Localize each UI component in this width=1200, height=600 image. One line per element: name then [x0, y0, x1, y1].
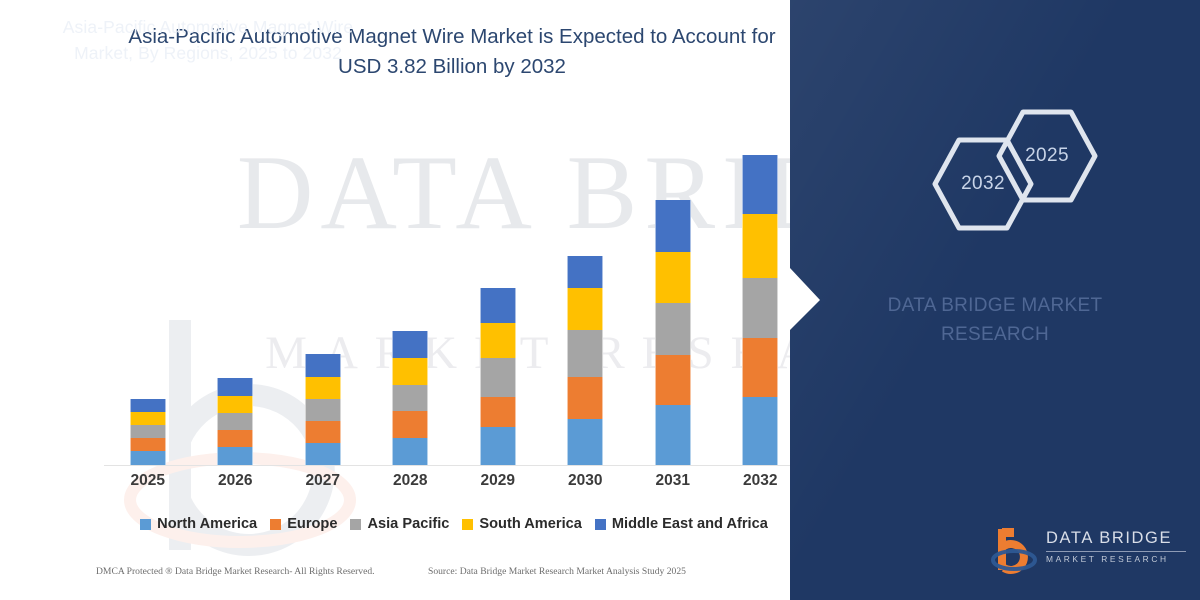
legend-swatch-icon	[595, 519, 606, 530]
bar-segment	[130, 438, 166, 451]
bar-segment	[217, 396, 253, 413]
bar-segment	[217, 430, 253, 447]
bar-segment	[655, 303, 691, 355]
legend-item[interactable]: North America	[140, 516, 257, 532]
brand-logo: DATA BRIDGE MARKET RESEARCH	[990, 522, 1186, 578]
bar-segment	[655, 252, 691, 303]
bar-column	[192, 120, 280, 465]
bar-segment	[567, 256, 603, 288]
stacked-bar	[480, 288, 516, 465]
bar-segment	[655, 200, 691, 251]
hex-badge-2025: 2025	[996, 108, 1098, 204]
bar-column	[542, 120, 630, 465]
x-axis-tick-label: 2031	[629, 472, 717, 490]
legend-item[interactable]: Europe	[270, 516, 337, 532]
bar-segment	[480, 397, 516, 427]
bar-segment	[567, 330, 603, 376]
bar-segment	[567, 377, 603, 419]
stacked-bar	[130, 399, 166, 465]
x-axis-tick-label: 2030	[542, 472, 630, 490]
bar-segment	[480, 358, 516, 397]
infographic-root: DATA BRIDGE MARKET RESEARCH Asia-Pacific…	[0, 0, 1200, 600]
legend-label: North America	[157, 516, 257, 532]
bar-segment	[567, 288, 603, 330]
bar-segment	[567, 419, 603, 465]
bar-segment	[392, 331, 428, 358]
x-axis-tick-label: 2029	[454, 472, 542, 490]
legend-label: Asia Pacific	[367, 516, 449, 532]
bar-segment	[480, 427, 516, 465]
bar-segment	[392, 438, 428, 465]
bar-segment	[480, 288, 516, 323]
footer-copyright: DMCA Protected ® Data Bridge Market Rese…	[96, 566, 375, 577]
bar-segment	[130, 451, 166, 465]
bar-segment	[742, 397, 778, 465]
bar-segment	[130, 399, 166, 412]
legend-swatch-icon	[462, 519, 473, 530]
legend-item[interactable]: South America	[462, 516, 581, 532]
x-axis-line	[104, 465, 804, 466]
side-panel-brand-text: DATA BRIDGE MARKET RESEARCH	[835, 292, 1155, 349]
bar-segment	[655, 405, 691, 465]
bar-segment	[480, 323, 516, 358]
bar-column	[629, 120, 717, 465]
side-panel-title: Asia-Pacific Automotive Magnet Wire Mark…	[32, 14, 384, 67]
footer: DMCA Protected ® Data Bridge Market Rese…	[0, 566, 800, 588]
stacked-bar	[392, 331, 428, 465]
bar-segment	[392, 411, 428, 438]
bar-column	[454, 120, 542, 465]
bar-segment	[130, 425, 166, 438]
data-bridge-b-icon	[990, 524, 1042, 576]
logo-divider	[1046, 551, 1186, 552]
bar-segment	[305, 377, 341, 399]
footer-source: Source: Data Bridge Market Research Mark…	[428, 566, 686, 577]
bar-segment	[742, 155, 778, 214]
chart-legend: North AmericaEuropeAsia PacificSouth Ame…	[104, 512, 804, 536]
stacked-bar-chart: 20252026202720282029203020312032	[104, 120, 804, 470]
logo-primary-text: DATA BRIDGE	[1046, 530, 1186, 547]
bar-segment	[742, 214, 778, 277]
stacked-bar	[567, 256, 603, 465]
bar-segment	[655, 355, 691, 405]
bar-column	[104, 120, 192, 465]
bar-segment	[217, 413, 253, 430]
legend-swatch-icon	[140, 519, 151, 530]
x-axis-tick-label: 2026	[192, 472, 280, 490]
legend-label: Middle East and Africa	[612, 516, 768, 532]
x-axis-tick-label: 2028	[367, 472, 455, 490]
bar-segment	[305, 399, 341, 421]
hexagon-badges: 2032 2025	[790, 108, 1200, 238]
bar-segment	[392, 385, 428, 412]
bar-segment	[392, 358, 428, 385]
bar-column	[279, 120, 367, 465]
hex-badge-2025-label: 2025	[996, 108, 1098, 204]
bar-segment	[742, 338, 778, 397]
bar-segment	[305, 421, 341, 443]
bar-segment	[217, 378, 253, 396]
stacked-bar	[305, 354, 341, 465]
logo-wordmark: DATA BRIDGE MARKET RESEARCH	[1046, 530, 1186, 563]
legend-item[interactable]: Middle East and Africa	[595, 516, 768, 532]
x-axis-tick-label: 2027	[279, 472, 367, 490]
legend-label: Europe	[287, 516, 337, 532]
legend-swatch-icon	[350, 519, 361, 530]
x-axis-labels: 20252026202720282029203020312032	[104, 472, 804, 498]
legend-label: South America	[479, 516, 581, 532]
bar-segment	[305, 443, 341, 465]
stacked-bar	[742, 155, 778, 465]
legend-swatch-icon	[270, 519, 281, 530]
bar-segment	[742, 278, 778, 338]
stacked-bar	[655, 200, 691, 465]
bar-column	[367, 120, 455, 465]
x-axis-tick-label: 2025	[104, 472, 192, 490]
stacked-bar	[217, 378, 253, 465]
bar-segment	[130, 412, 166, 425]
legend-item[interactable]: Asia Pacific	[350, 516, 449, 532]
bar-segment	[217, 447, 253, 465]
chart-plot-area	[104, 120, 804, 465]
bar-segment	[305, 354, 341, 378]
logo-secondary-text: MARKET RESEARCH	[1046, 555, 1186, 563]
